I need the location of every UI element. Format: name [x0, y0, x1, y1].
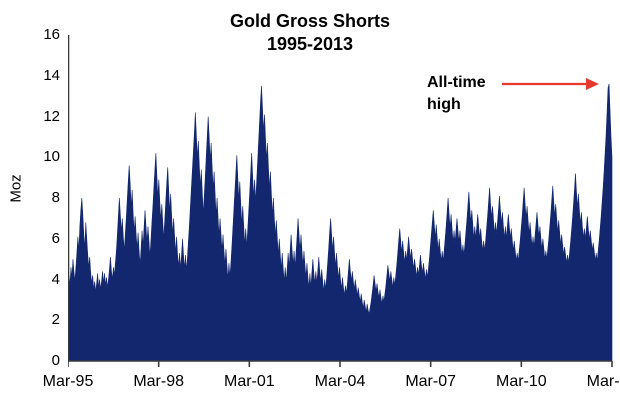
- y-tick-label: 16: [26, 27, 60, 42]
- y-tick-label: 4: [26, 272, 60, 287]
- y-tick-label: 12: [26, 109, 60, 124]
- y-tick-label: 8: [26, 190, 60, 205]
- y-tick-label: 14: [26, 68, 60, 83]
- y-axis-label: Moz: [8, 159, 25, 219]
- y-tick-label: 2: [26, 312, 60, 327]
- x-tick-label: Mar-07: [386, 373, 476, 391]
- x-tick-label: Mar-95: [23, 373, 113, 391]
- x-tick-label: Mar-10: [476, 373, 566, 391]
- y-tick-label: 6: [26, 231, 60, 246]
- chart-title-line1: Gold Gross Shorts: [230, 11, 390, 31]
- annotation-line1: All-time: [427, 72, 486, 94]
- annotation-line2: high: [427, 94, 486, 116]
- y-tick-label: 0: [26, 353, 60, 368]
- y-tick-label: 10: [26, 149, 60, 164]
- plot-area: [68, 35, 612, 361]
- x-tick-label: Mar-01: [204, 373, 294, 391]
- x-tick-label: Mar-13: [567, 373, 620, 391]
- x-tick-label: Mar-04: [295, 373, 385, 391]
- chart-container: Gold Gross Shorts 1995-2013 Moz 16141210…: [0, 0, 620, 411]
- area-series-gold-gross-shorts: [68, 84, 612, 361]
- x-tick-label: Mar-98: [114, 373, 204, 391]
- annotation-all-time-high: All-time high: [427, 72, 486, 116]
